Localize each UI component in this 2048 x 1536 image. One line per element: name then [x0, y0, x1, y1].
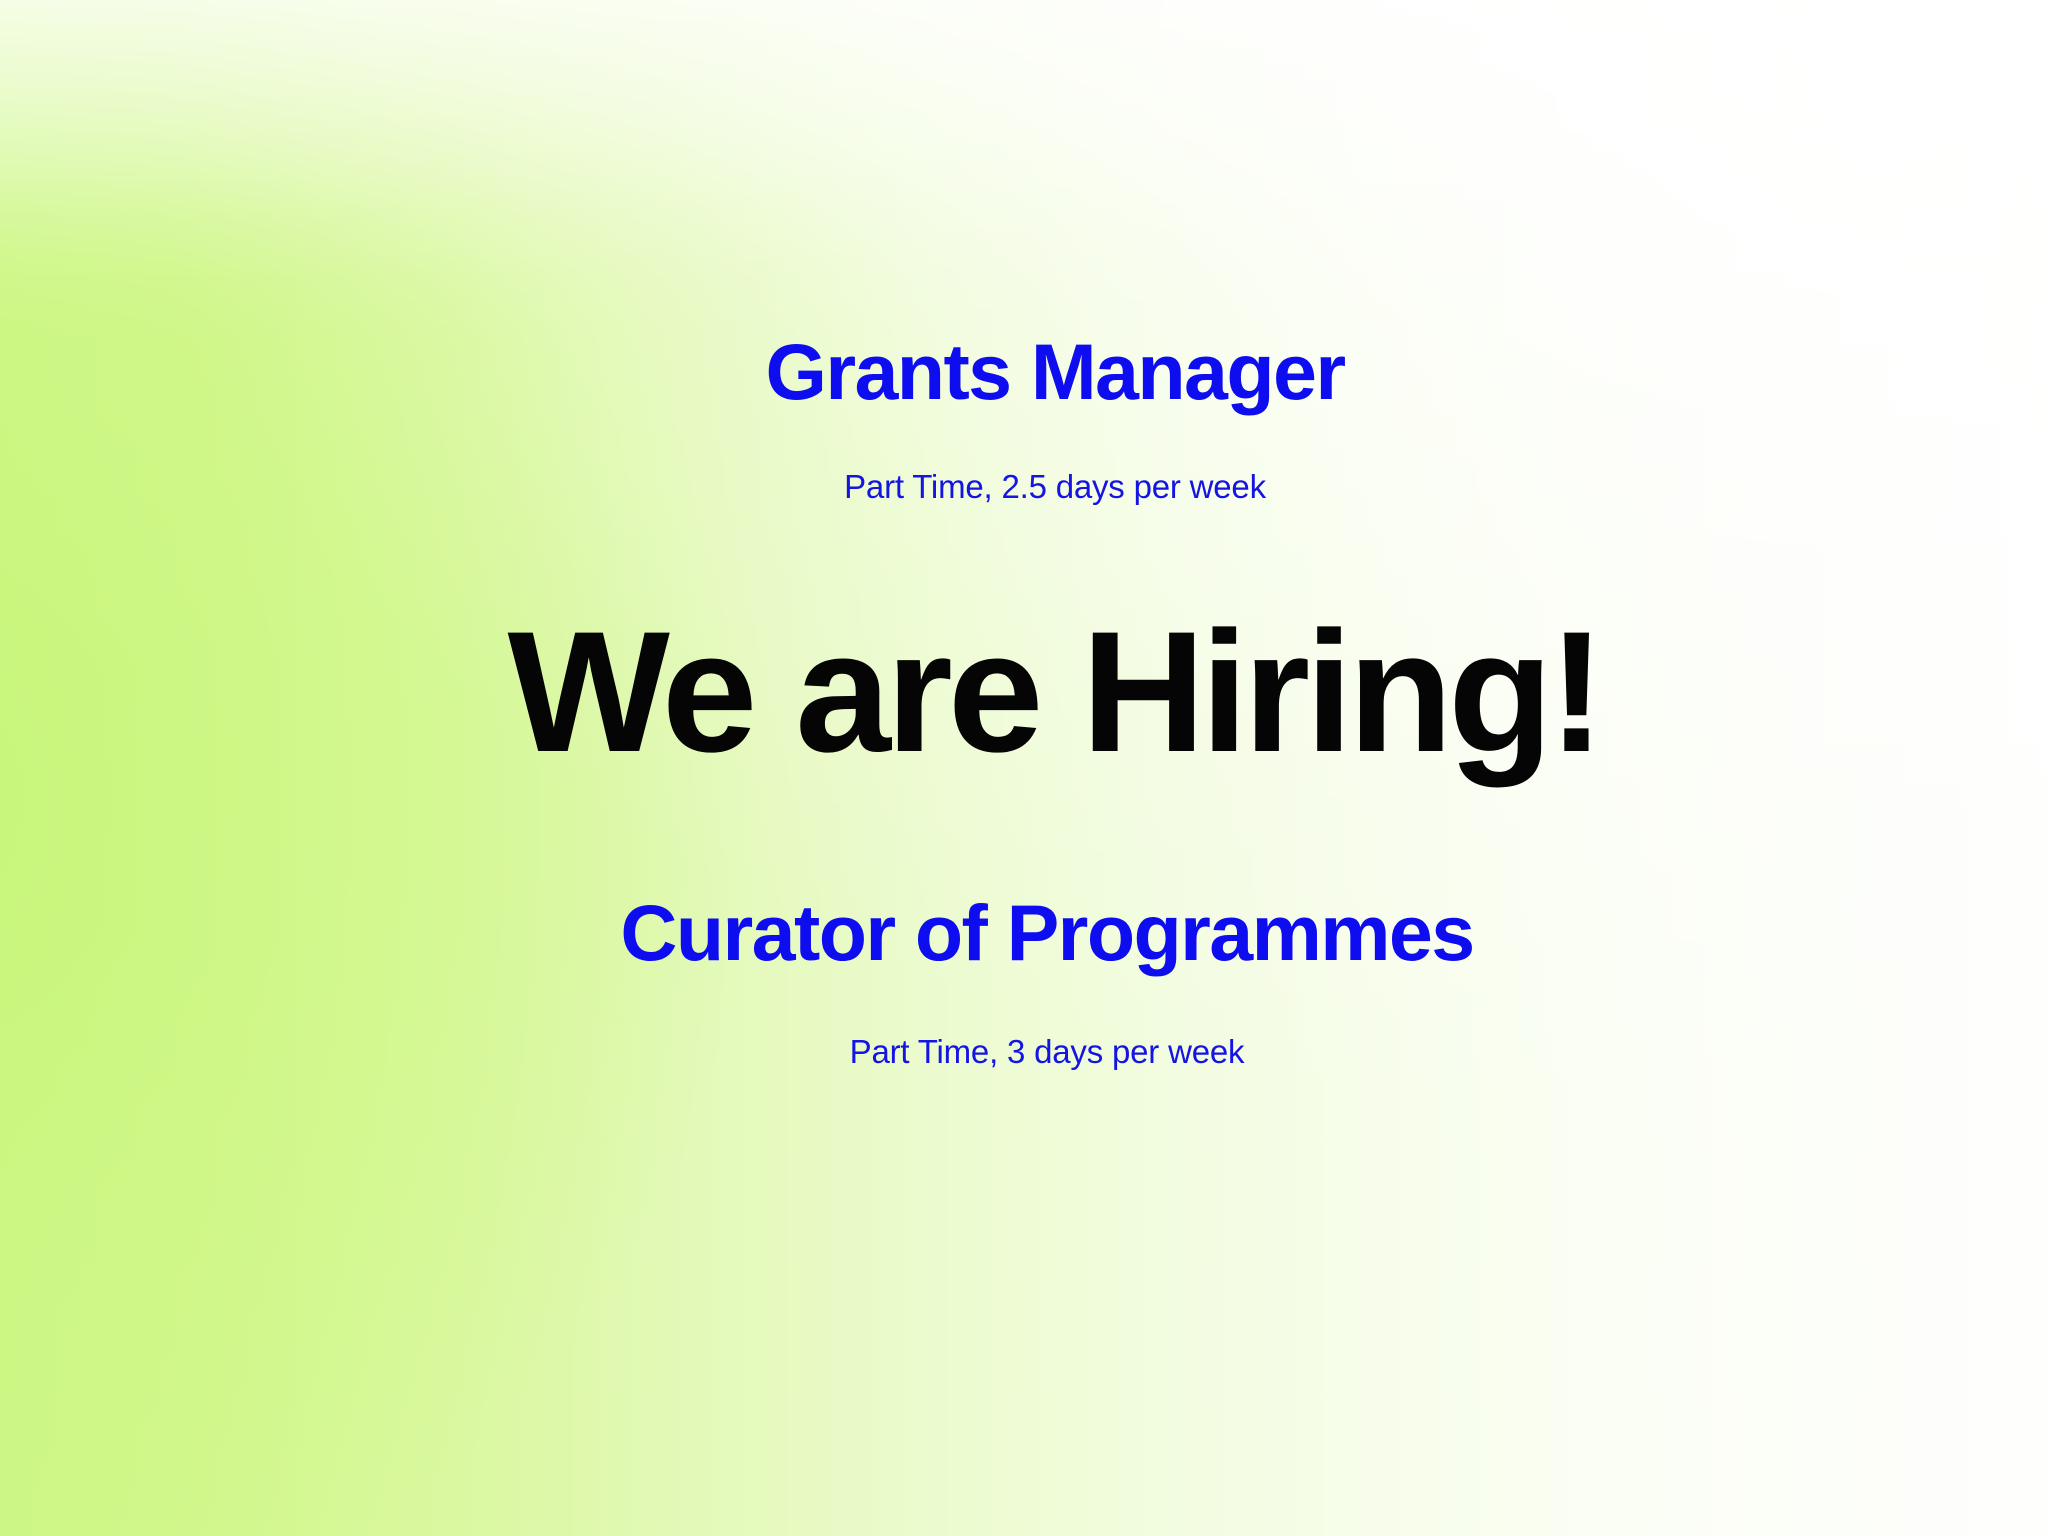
hiring-poster: Grants Manager Part Time, 2.5 days per w…	[0, 0, 2048, 1536]
page-title: We are Hiring!	[508, 596, 1601, 788]
poster-content: Grants Manager Part Time, 2.5 days per w…	[0, 0, 2048, 1536]
role-1-meta-row: Part Time, 2.5 days per week	[31, 469, 2048, 505]
role-1-title-row: Grants Manager	[31, 332, 2048, 411]
headline-row: We are Hiring!	[30, 611, 2048, 774]
role-1-title: Grants Manager	[765, 327, 1344, 416]
role-2-meta-row: Part Time, 3 days per week	[23, 1034, 2048, 1070]
role-1-meta: Part Time, 2.5 days per week	[844, 468, 1266, 505]
role-2-title-row: Curator of Programmes	[23, 893, 2048, 972]
role-2-meta: Part Time, 3 days per week	[850, 1033, 1245, 1070]
role-2-title: Curator of Programmes	[620, 888, 1473, 977]
